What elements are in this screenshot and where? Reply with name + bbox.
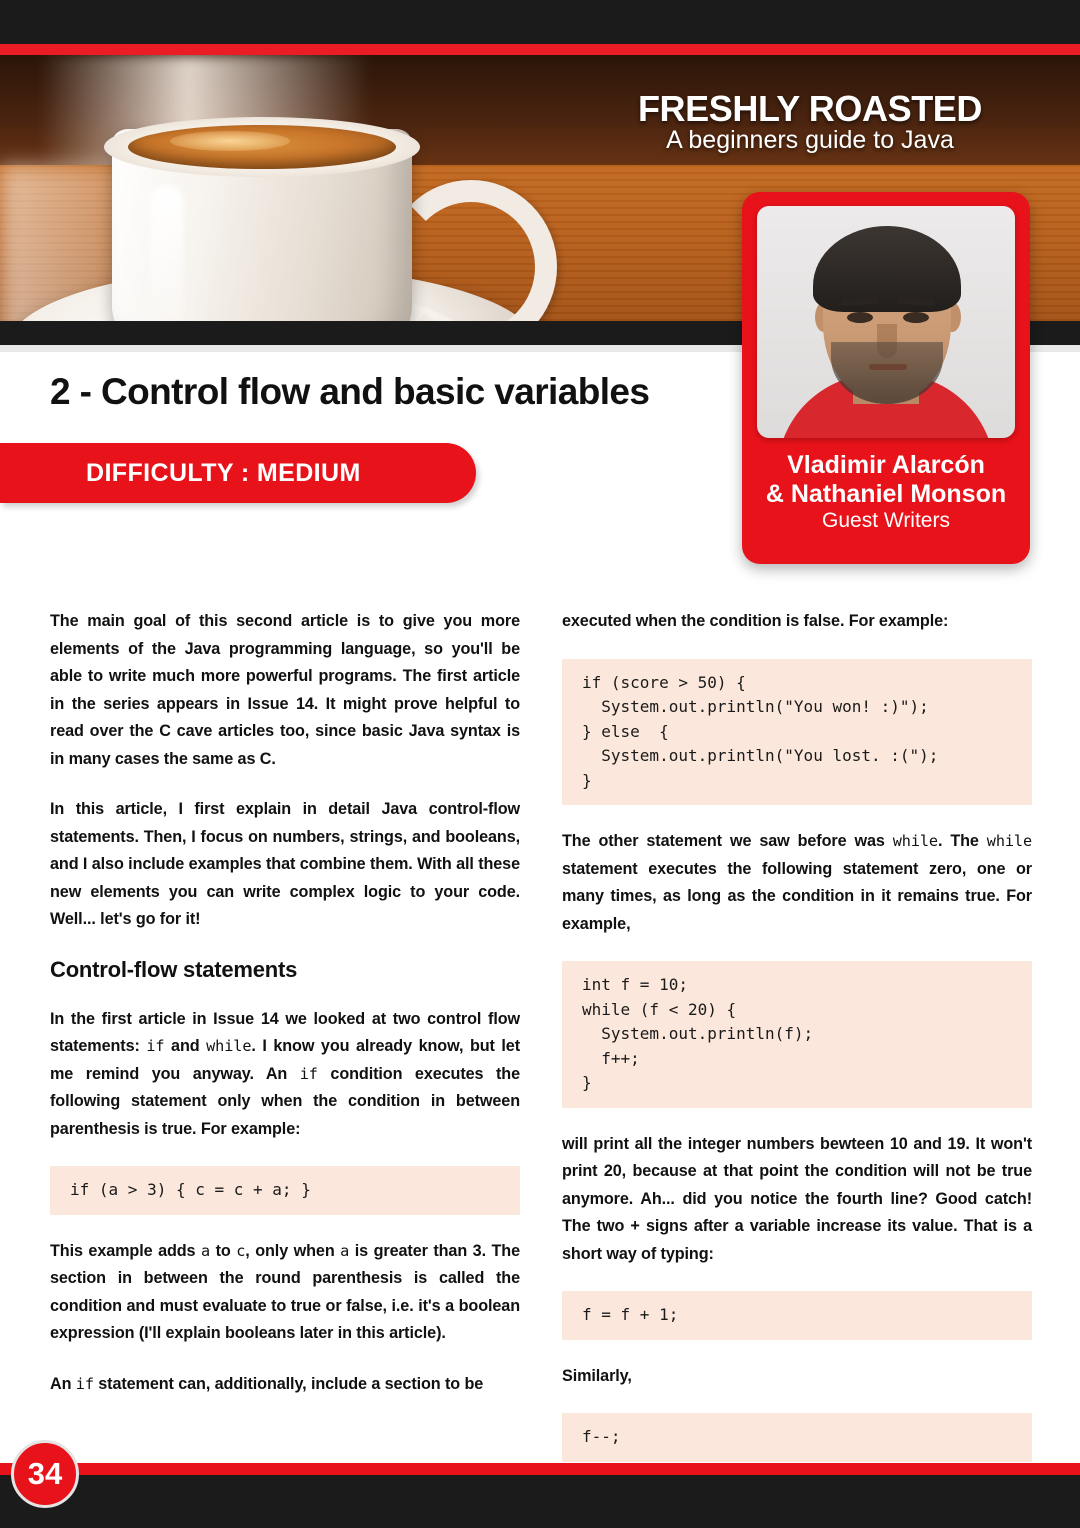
portrait-eye-right [903,312,929,323]
paragraph: executed when the condition is false. Fo… [562,608,1032,636]
paragraph: In the first article in Issue 14 we look… [50,1006,520,1144]
inline-code: while [893,832,938,850]
section-heading: Control-flow statements [50,957,520,983]
portrait-mouth [869,364,907,370]
code-block: f--; [562,1413,1032,1462]
inline-code: a [340,1242,349,1260]
text-run: . The [938,832,987,850]
paragraph: will print all the integer numbers bewte… [562,1131,1032,1269]
magazine-title: FRESHLY ROASTED [600,88,1020,130]
portrait-eye-left [847,312,873,323]
text-run: This example adds [50,1242,201,1260]
inline-code: while [206,1037,251,1055]
page-title: 2 - Control flow and basic variables [50,371,649,413]
footer-red-stripe [0,1463,1080,1475]
top-red-stripe [0,44,1080,55]
paragraph: This example adds a to c, only when a is… [50,1238,520,1348]
text-run: statement executes the following stateme… [562,860,1032,933]
code-block: f = f + 1; [562,1291,1032,1340]
code-block: if (a > 3) { c = c + a; } [50,1166,520,1215]
inline-code: if [300,1065,318,1083]
paragraph: The main goal of this second article is … [50,608,520,773]
text-run: to [210,1242,236,1260]
text-run: , only when [245,1242,340,1260]
inline-code: if [76,1375,94,1393]
text-run: and [164,1037,206,1055]
author-role: Guest Writers [742,508,1030,533]
paragraph: In this article, I first explain in deta… [50,796,520,934]
text-run: An [50,1375,76,1393]
left-column: The main goal of this second article is … [50,608,520,1398]
magazine-subtitle: A beginners guide to Java [600,126,1020,155]
author-names: Vladimir Alarcón & Nathaniel Monson [742,451,1030,509]
paragraph: The other statement we saw before was wh… [562,828,1032,938]
author-portrait [757,206,1015,438]
paragraph: An if statement can, additionally, inclu… [50,1371,520,1399]
portrait-hair [813,226,961,312]
paragraph: Similarly, [562,1363,1032,1391]
code-block: if (score > 50) { System.out.println("Yo… [562,659,1032,806]
inline-code: if [146,1037,164,1055]
cup-highlight [150,185,184,335]
difficulty-label: DIFFICULTY : MEDIUM [86,459,361,488]
top-black-bar [0,0,1080,44]
text-run: The other statement we saw before was [562,832,893,850]
text-run: statement can, additionally, include a s… [94,1375,483,1393]
right-column: executed when the condition is false. Fo… [562,608,1032,1512]
footer-black-bar [0,1475,1080,1528]
inline-code: a [201,1242,210,1260]
page-number-badge: 34 [11,1440,79,1508]
inline-code: c [236,1242,245,1260]
crema-highlight [170,131,290,151]
code-block: int f = 10; while (f < 20) { System.out.… [562,961,1032,1108]
inline-code: while [987,832,1032,850]
